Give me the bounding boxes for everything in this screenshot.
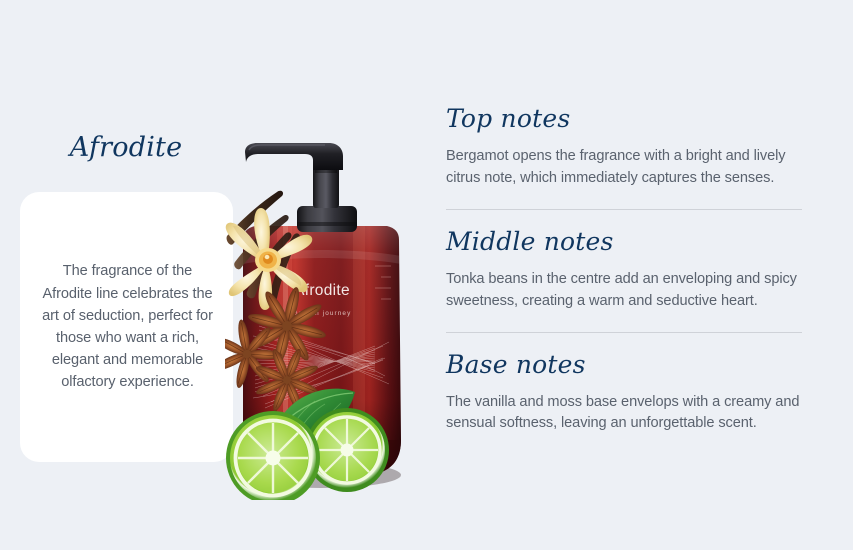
note-heading-base: Base notes	[446, 350, 818, 379]
note-heading-middle: Middle notes	[446, 227, 818, 256]
product-detail-page: Afrodite The fragrance of the Afrodite l…	[0, 0, 853, 550]
description-text: The fragrance of the Afrodite line celeb…	[40, 260, 215, 393]
note-block-base: Base notes The vanilla and moss base env…	[446, 350, 818, 436]
note-heading-top: Top notes	[446, 104, 818, 133]
note-divider-1	[446, 209, 802, 210]
fragrance-notes-list: Top notes Bergamot opens the fragrance w…	[446, 104, 818, 435]
note-block-middle: Middle notes Tonka beans in the centre a…	[446, 227, 818, 313]
note-body-top: Bergamot opens the fragrance with a brig…	[446, 146, 818, 190]
product-image: Afrodite Golden journey SHOWER GEL Made …	[225, 140, 440, 500]
note-divider-2	[446, 332, 802, 333]
page-title: Afrodite	[0, 132, 252, 163]
note-block-top: Top notes Bergamot opens the fragrance w…	[446, 104, 818, 190]
pump-nozzle	[245, 143, 343, 170]
note-body-base: The vanilla and moss base envelops with …	[446, 392, 818, 436]
note-body-middle: Tonka beans in the centre add an envelop…	[446, 269, 818, 313]
pump-collar	[297, 206, 357, 232]
description-card: The fragrance of the Afrodite line celeb…	[20, 192, 233, 462]
